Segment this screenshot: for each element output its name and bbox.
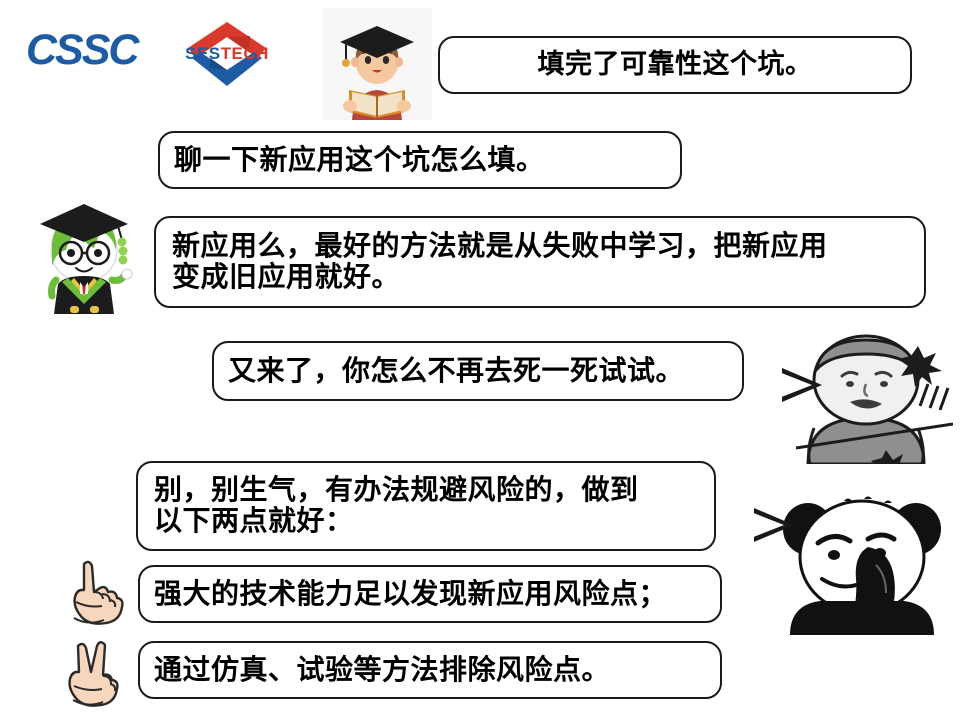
panda-head-thinking-meme xyxy=(772,495,952,635)
speech-bubble-1-text: 填完了可靠性这个坑。 xyxy=(538,49,813,81)
speech-bubble-1[interactable]: 填完了可靠性这个坑。 xyxy=(438,36,912,94)
avatar-student-reading xyxy=(322,8,432,120)
speech-bubble-2[interactable]: 聊一下新应用这个坑怎么填。 xyxy=(158,131,682,189)
speech-bubble-3[interactable]: 新应用么，最好的方法就是从失败中学习，把新应用 变成旧应用就好。 xyxy=(154,216,926,308)
sestech-logo-text: SESTECH xyxy=(178,44,276,64)
hand-one-finger-icon xyxy=(62,556,124,628)
avatar-professor xyxy=(22,188,154,316)
speech-bubble-6-text: 强大的技术能力足以发现新应用风险点； xyxy=(154,577,667,610)
speech-bubble-3-text: 新应用么，最好的方法就是从失败中学习，把新应用 变成旧应用就好。 xyxy=(172,231,828,293)
speech-bubble-2-text: 聊一下新应用这个坑怎么填。 xyxy=(174,143,545,176)
green-haired-professor-cartoon-icon xyxy=(22,188,154,316)
speech-bubble-4-text: 又来了，你怎么不再去死一死试试。 xyxy=(228,354,684,387)
speech-bubble-7[interactable]: 通过仿真、试验等方法排除风险点。 xyxy=(138,641,722,699)
speech-bubble-7-text: 通过仿真、试验等方法排除风险点。 xyxy=(154,653,610,686)
sestech-ses-text: SES xyxy=(185,44,221,63)
meme-panda xyxy=(772,495,952,635)
cssc-logo: CSSC xyxy=(26,24,166,76)
speech-bubble-5-text: 别，别生气，有办法规避风险的，做到 以下两点就好： xyxy=(154,475,639,537)
speech-bubble-6[interactable]: 强大的技术能力足以发现新应用风险点； xyxy=(138,565,722,623)
hand-two-fingers-icon xyxy=(62,638,124,710)
speech-bubble-4[interactable]: 又来了，你怎么不再去死一死试试。 xyxy=(212,341,744,401)
sestech-tech-text: TECH xyxy=(221,44,269,63)
sestech-logo: SESTECH xyxy=(178,18,276,90)
slide-canvas: CSSC SESTECH xyxy=(0,0,960,720)
cssc-logo-text: CSSC xyxy=(26,24,166,76)
graduate-student-reading-book-icon xyxy=(322,8,432,120)
speech-bubble-5[interactable]: 别，别生气，有办法规避风险的，做到 以下两点就好： xyxy=(136,461,716,551)
